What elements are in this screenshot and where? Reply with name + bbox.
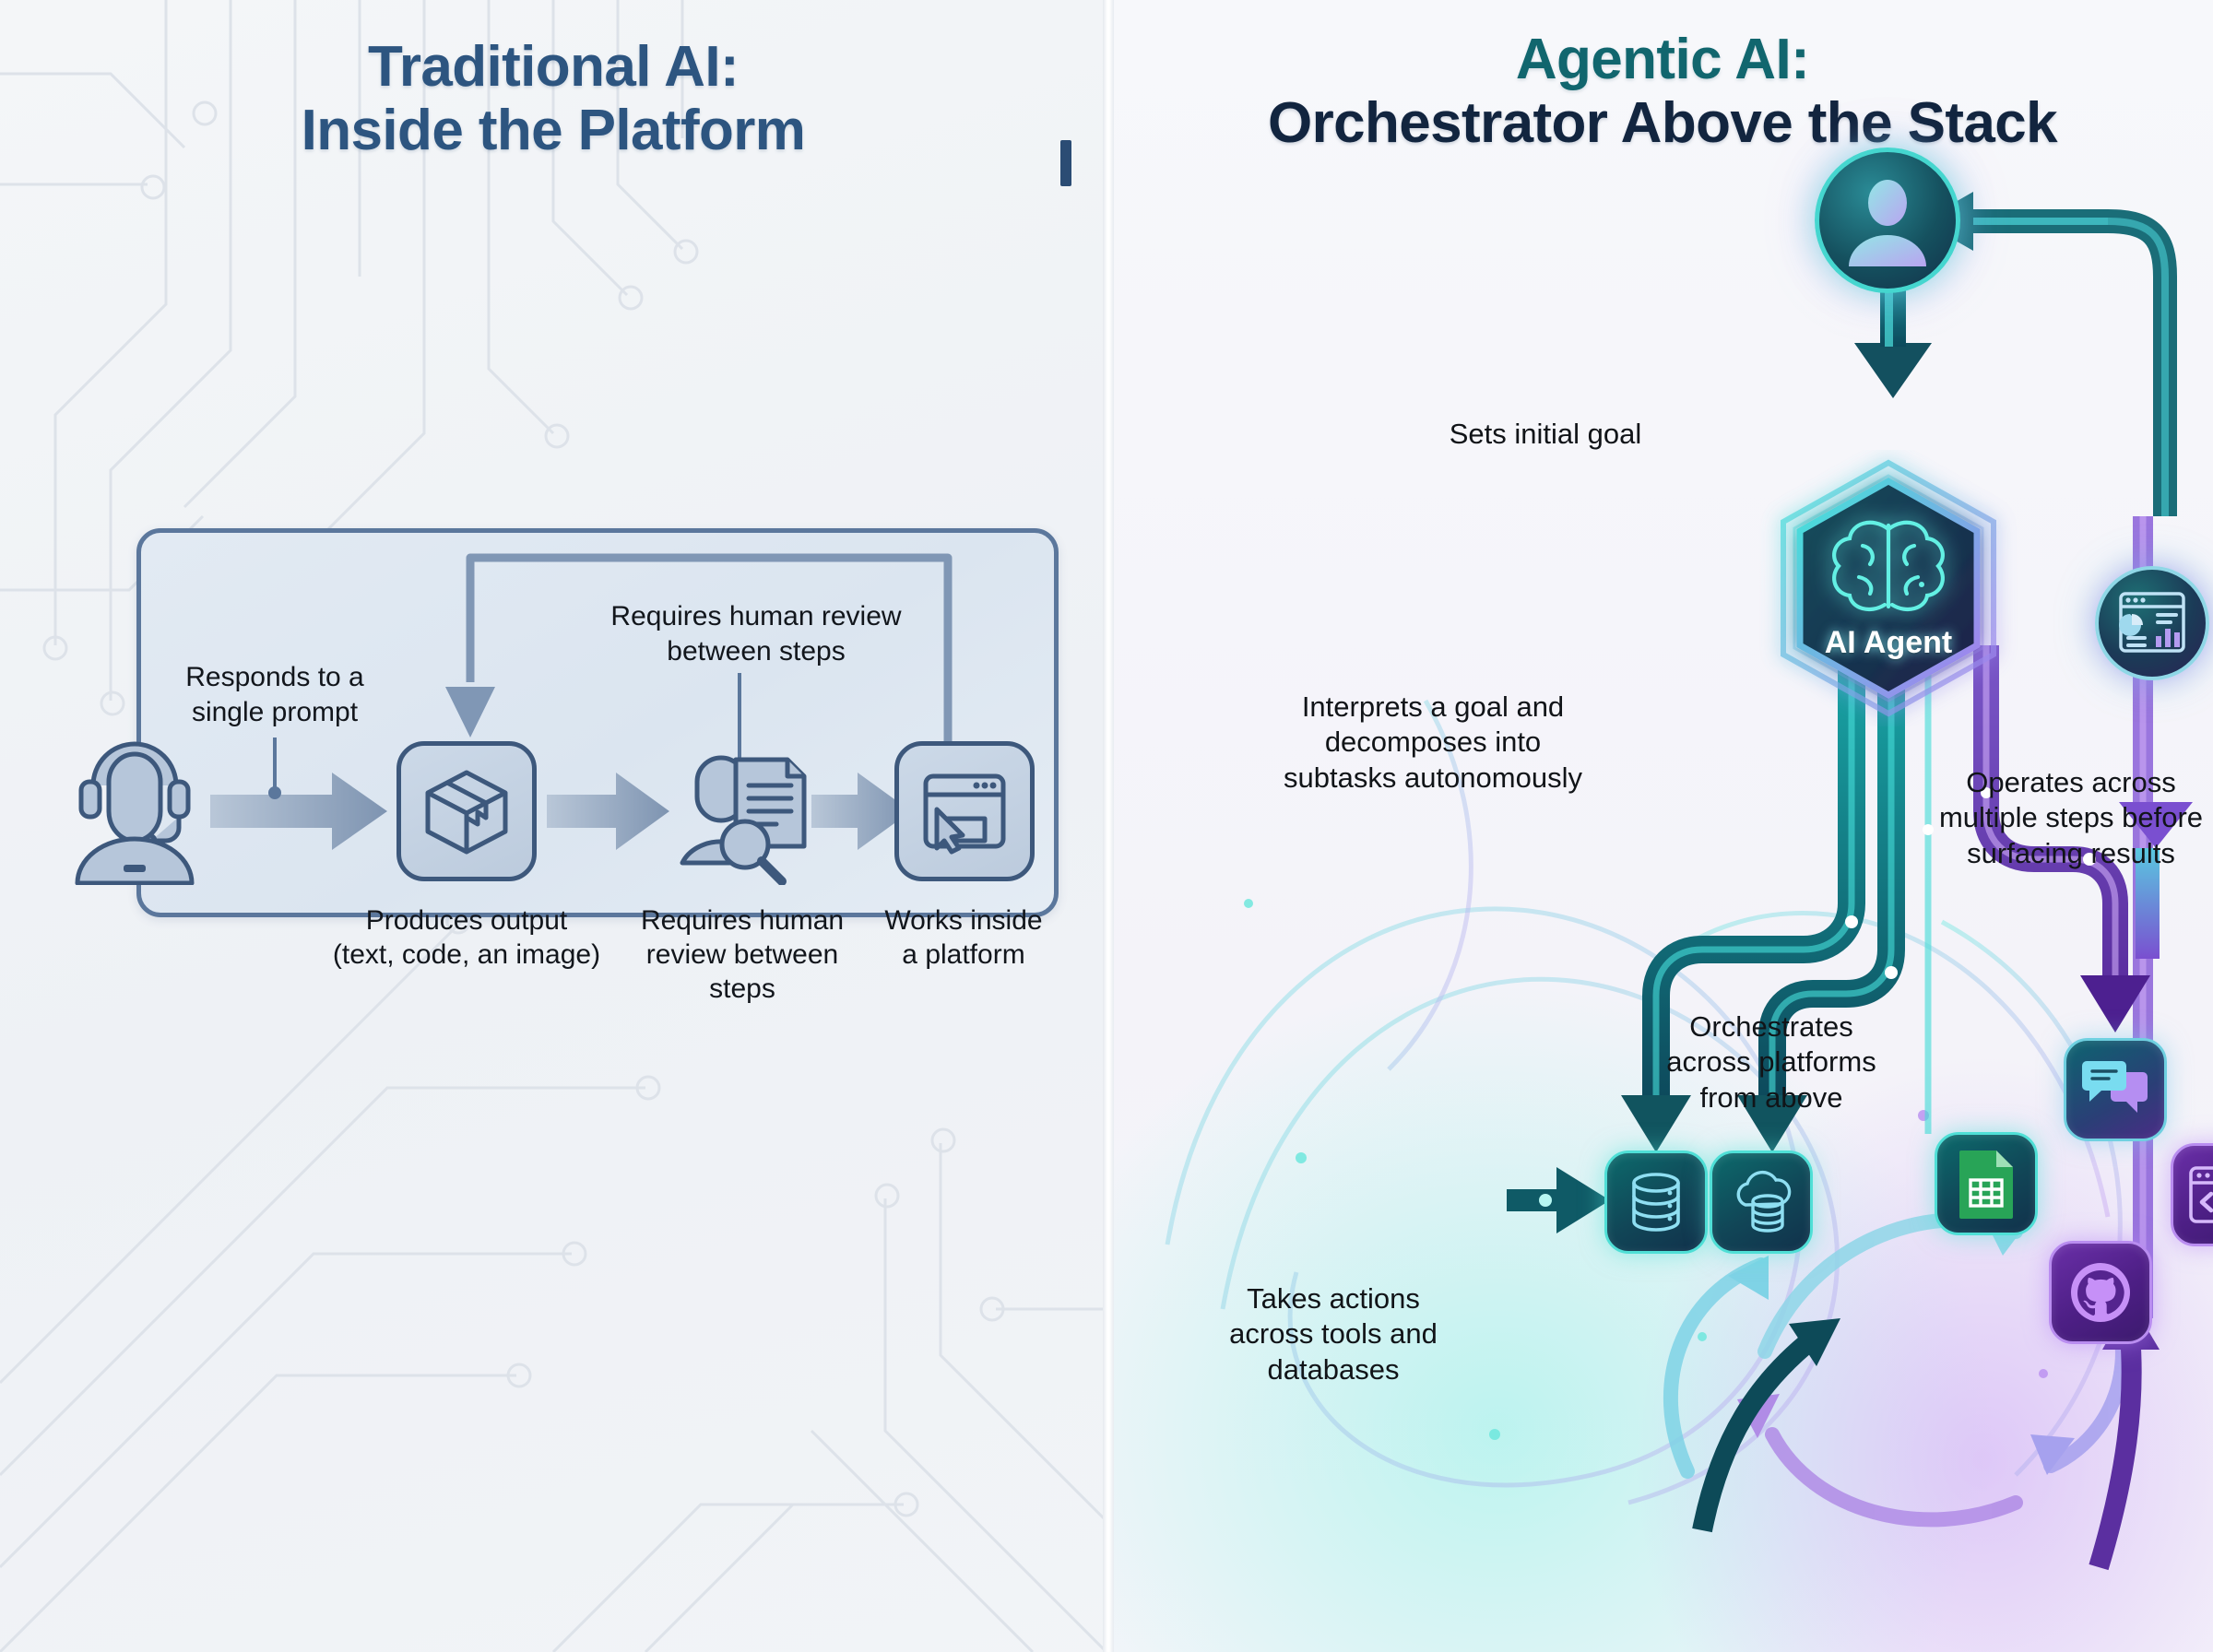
infographic-canvas: Traditional AI: Inside the Platform [0, 0, 2213, 1652]
github-icon [2067, 1259, 2134, 1326]
left-title-line2: Inside the Platform [302, 99, 806, 162]
operates-annotation: Operates across multiple steps before su… [1933, 765, 2209, 871]
user-avatar-node [1815, 147, 1960, 293]
platform-node [894, 741, 1035, 881]
left-panel-title: Traditional AI: Inside the Platform [0, 35, 1106, 163]
panel-divider [1103, 0, 1114, 1652]
user-avatar-icon [1838, 171, 1937, 270]
review-top-annotation: Requires human review between steps [590, 599, 922, 669]
brain-hexagon-icon [1750, 450, 2027, 726]
chat-messages-icon [2082, 1059, 2148, 1120]
output-node [396, 741, 537, 881]
output-caption: Produces output (text, code, an image) [314, 903, 619, 972]
left-title-line1: Traditional AI: [368, 35, 739, 99]
headset-agent-icon [61, 728, 208, 885]
person-document-magnifier-icon [671, 745, 811, 885]
prompt-annotation: Responds to a single prompt [109, 660, 441, 730]
interprets-annotation: Interprets a goal and decomposes into su… [1249, 690, 1617, 796]
database-icon [1625, 1171, 1687, 1233]
right-panel-title: Agentic AI: Orchestrator Above the Stack [1112, 28, 2213, 156]
tool-spreadsheet [1935, 1132, 2038, 1235]
analytics-dashboard-icon [2115, 586, 2189, 660]
tool-chat [2064, 1038, 2167, 1141]
right-title-line2: Orchestrator Above the Stack [1112, 91, 2213, 155]
human-review-node [671, 745, 811, 890]
prompt-annotation-stub [273, 737, 277, 793]
right-title-line1: Agentic AI: [1112, 28, 2213, 91]
agentic-ai-panel: Agentic AI: Orchestrator Above the Stack [1112, 0, 2213, 1652]
browser-window-cursor-icon [920, 767, 1009, 855]
tool-database [1604, 1150, 1708, 1254]
traditional-ai-panel: Traditional AI: Inside the Platform [0, 0, 1106, 1652]
platform-caption: Works inside a platform [811, 903, 1106, 972]
takes-actions-annotation: Takes actions across tools and databases [1195, 1281, 1472, 1387]
tool-github [2049, 1241, 2152, 1344]
output-icon-tile [396, 741, 537, 881]
ai-agent-node: AI Agent [1750, 450, 2027, 726]
sets-goal-annotation: Sets initial goal [1398, 417, 1693, 452]
spreadsheet-icon [1956, 1149, 2017, 1219]
dashboard-node [2095, 566, 2209, 680]
orchestrates-annotation: Orchestrates across platforms from above [1638, 1009, 1905, 1115]
platform-icon-tile [894, 741, 1035, 881]
tool-code-window [2171, 1143, 2213, 1246]
human-operator-node [61, 728, 208, 890]
code-window-icon [2187, 1164, 2213, 1225]
package-box-icon [422, 767, 511, 855]
ai-agent-label: AI Agent [1769, 625, 2008, 661]
tool-cloud-database [1710, 1150, 1813, 1254]
cloud-database-icon [1729, 1170, 1793, 1234]
